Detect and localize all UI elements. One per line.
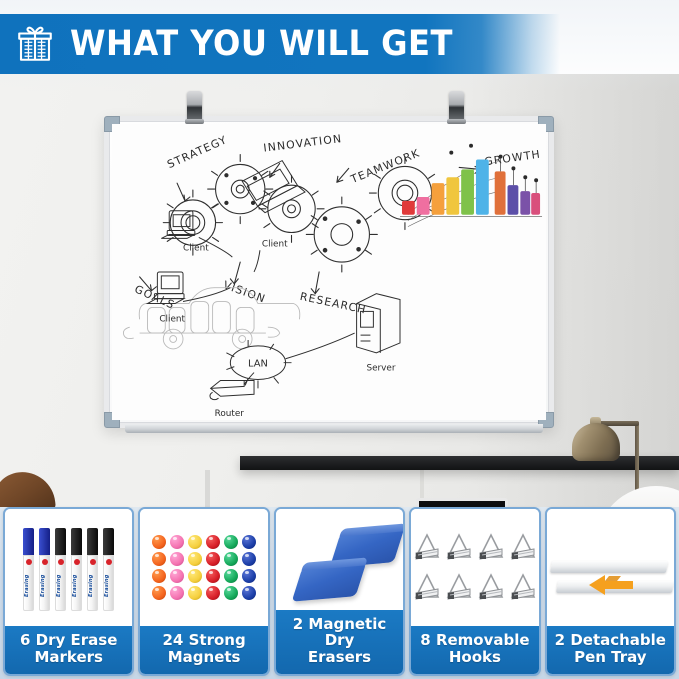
card-label-line2: Markers <box>7 649 130 666</box>
magnet-item <box>170 535 184 549</box>
magnet-item <box>224 535 238 549</box>
card-label-line1: 2 Magnetic Dry <box>278 616 401 650</box>
marker-item: Erasing <box>39 528 50 611</box>
magnet-item <box>206 586 220 600</box>
sketch-label-vision: VISION <box>221 278 267 305</box>
magnet-item <box>188 552 202 566</box>
card-dry-erase-markers[interactable]: Erasing Erasing Erasing <box>3 507 134 676</box>
marker-item: Erasing <box>87 528 98 611</box>
card-strong-magnets[interactable]: 24 Strong Magnets <box>138 507 269 676</box>
gear-2 <box>208 155 273 224</box>
magnet-item <box>170 569 184 583</box>
magnet-item <box>206 535 220 549</box>
whiteboard: STRATEGY INNOVATION TEAMWORK GROWTH GOAL… <box>104 116 554 428</box>
room-scene: STRATEGY INNOVATION TEAMWORK GROWTH GOAL… <box>0 74 679 511</box>
header-banner: WHAT YOU WILL GET <box>0 14 560 74</box>
card-label-line2: Pen Tray <box>549 649 672 666</box>
magnet-item <box>152 535 166 549</box>
hook-item <box>478 573 504 603</box>
marker-brand: Erasing <box>88 569 97 597</box>
card-magnetic-erasers[interactable]: 2 Magnetic Dry Erasers <box>274 507 405 676</box>
magnet-item <box>206 552 220 566</box>
card-label-line1: 2 Detachable <box>549 632 672 649</box>
marker-brand: Erasing <box>104 569 113 597</box>
card-label-line1: 6 Dry Erase <box>7 632 130 649</box>
magnet-item <box>224 552 238 566</box>
magnet-item <box>242 535 256 549</box>
magnet-item <box>242 552 256 566</box>
card-label-erasers: 2 Magnetic Dry Erasers <box>276 610 403 674</box>
hook-item <box>414 533 440 563</box>
desk-leg-left <box>205 470 210 511</box>
marker-item: Erasing <box>71 528 82 611</box>
product-infographic: WHAT YOU WILL GET <box>0 0 679 679</box>
sketch-label-innovation: INNOVATION <box>263 132 343 155</box>
card-label-line2: Erasers <box>278 649 401 666</box>
board-pen-tray <box>125 424 543 433</box>
hooks-image <box>411 509 538 626</box>
hook-item <box>446 573 472 603</box>
detach-arrow-icon <box>587 573 637 597</box>
erasers-image <box>276 509 403 610</box>
marker-item: Erasing <box>103 528 114 611</box>
page-title: WHAT YOU WILL GET <box>70 27 453 62</box>
whiteboard-sketch: STRATEGY INNOVATION TEAMWORK GROWTH GOAL… <box>112 124 546 420</box>
magnet-item <box>188 569 202 583</box>
card-label-pen-tray: 2 Detachable Pen Tray <box>547 626 674 674</box>
pen-tray-item <box>550 561 668 573</box>
sketch-label-growth: GROWTH <box>483 148 541 169</box>
card-label-hooks: 8 Removable Hooks <box>411 626 538 674</box>
marker-brand: Erasing <box>40 569 49 597</box>
magnet-item <box>152 586 166 600</box>
hook-item <box>478 533 504 563</box>
marker-item: Erasing <box>55 528 66 611</box>
sketch-network: LAN Client <box>148 157 401 419</box>
card-label-line2: Hooks <box>413 649 536 666</box>
hook-item <box>510 533 536 563</box>
sketch-label-client-1: Client <box>183 243 209 253</box>
card-label-line1: 24 Strong <box>142 632 265 649</box>
hook-item <box>510 573 536 603</box>
sketch-label-strategy: STRATEGY <box>165 133 229 171</box>
hook-item <box>414 573 440 603</box>
sketch-label-server: Server <box>366 364 395 374</box>
whiteboard-surface: STRATEGY INNOVATION TEAMWORK GROWTH GOAL… <box>112 124 546 420</box>
sketch-label-router: Router <box>215 409 245 419</box>
sketch-label-teamwork: TEAMWORK <box>348 146 422 186</box>
magnet-item <box>152 569 166 583</box>
magnet-item <box>188 586 202 600</box>
magnet-item <box>188 535 202 549</box>
magnet-item <box>224 586 238 600</box>
magnet-item <box>206 569 220 583</box>
gift-box-icon <box>14 23 56 65</box>
hanging-clip-right <box>449 91 464 121</box>
hook-grid <box>411 523 538 613</box>
card-detachable-pen-tray[interactable]: 2 Detachable Pen Tray <box>545 507 676 676</box>
hanging-clip-left <box>187 91 202 121</box>
magnet-item <box>170 586 184 600</box>
eraser-item <box>291 562 366 601</box>
card-label-line2: Magnets <box>142 649 265 666</box>
magnet-item <box>152 552 166 566</box>
magnet-item <box>224 569 238 583</box>
magnet-grid <box>148 529 260 606</box>
marker-brand: Erasing <box>24 569 33 597</box>
card-label-markers: 6 Dry Erase Markers <box>5 626 132 674</box>
marker-group: Erasing Erasing Erasing <box>23 524 114 611</box>
card-label-line1: 8 Removable <box>413 632 536 649</box>
magnet-item <box>170 552 184 566</box>
pen-tray-image <box>547 509 674 626</box>
gear-4 <box>306 197 377 272</box>
marker-brand: Erasing <box>56 569 65 597</box>
marker-item: Erasing <box>23 528 34 611</box>
sketch-label-client-3: Client <box>262 239 288 249</box>
marker-brand: Erasing <box>72 569 81 597</box>
magnet-item <box>242 586 256 600</box>
product-card-strip: Erasing Erasing Erasing <box>0 507 679 679</box>
sketch-label-lan: LAN <box>248 359 268 370</box>
sketch-label-client-2: Client <box>159 314 185 324</box>
markers-image: Erasing Erasing Erasing <box>5 509 132 626</box>
hook-item <box>446 533 472 563</box>
magnet-item <box>242 569 256 583</box>
card-label-magnets: 24 Strong Magnets <box>140 626 267 674</box>
magnets-image <box>140 509 267 626</box>
card-removable-hooks[interactable]: 8 Removable Hooks <box>409 507 540 676</box>
